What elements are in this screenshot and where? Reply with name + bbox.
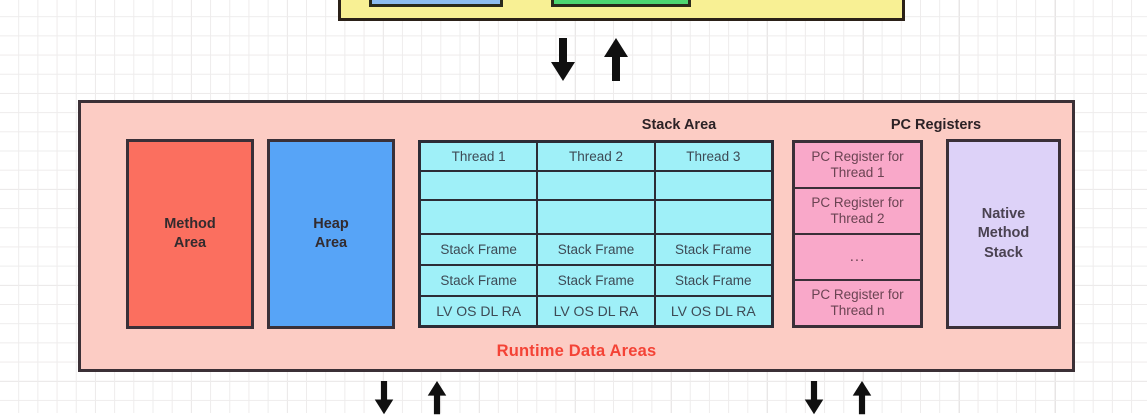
arrow-up-bottom-right <box>849 381 875 415</box>
thread-header-cell: Thread 2 <box>538 143 653 172</box>
stack-frame-cell: Stack Frame <box>656 235 771 266</box>
stack-empty-cell <box>538 172 653 201</box>
stack-frame-cell: Stack Frame <box>656 266 771 297</box>
arrow-down-bottom-right <box>802 381 826 415</box>
pc-registers-title: PC Registers <box>792 117 1080 133</box>
green-component-box <box>551 0 691 7</box>
pc-register-cell: PC Register for Thread 1 <box>795 143 920 189</box>
arrow-down-bottom-left <box>372 381 396 415</box>
heap-area-block: Heap Area <box>267 139 395 329</box>
stack-frame-cell: Stack Frame <box>421 266 536 297</box>
pc-register-ellipsis-cell: ... <box>795 235 920 281</box>
stack-empty-cell <box>421 172 536 201</box>
thread-column-3: Thread 3 Stack Frame Stack Frame LV OS D… <box>656 143 771 325</box>
runtime-data-areas-container: Stack Area PC Registers Method Area Heap… <box>78 100 1075 372</box>
stack-empty-cell <box>656 201 771 235</box>
stack-empty-cell <box>421 201 536 235</box>
pc-register-cell: PC Register for Thread 2 <box>795 189 920 235</box>
stack-empty-cell <box>656 172 771 201</box>
diagram-canvas: Stack Area PC Registers Method Area Heap… <box>0 0 1147 413</box>
thread-column-2: Thread 2 Stack Frame Stack Frame LV OS D… <box>538 143 655 325</box>
blue-component-box <box>369 0 503 7</box>
stack-area-table: Thread 1 Stack Frame Stack Frame LV OS D… <box>418 140 774 328</box>
arrow-up-top <box>603 38 629 82</box>
stack-frame-parts-cell: LV OS DL RA <box>421 297 536 325</box>
thread-header-cell: Thread 3 <box>656 143 771 172</box>
stack-frame-cell: Stack Frame <box>538 235 653 266</box>
runtime-data-areas-caption: Runtime Data Areas <box>81 342 1072 361</box>
arrow-down-top <box>550 38 576 82</box>
stack-frame-cell: Stack Frame <box>538 266 653 297</box>
method-area-block: Method Area <box>126 139 254 329</box>
pc-registers-stack: PC Register for Thread 1 PC Register for… <box>792 140 923 328</box>
stack-frame-parts-cell: LV OS DL RA <box>656 297 771 325</box>
stack-empty-cell <box>538 201 653 235</box>
pc-register-cell: PC Register for Thread n <box>795 281 920 325</box>
thread-header-cell: Thread 1 <box>421 143 536 172</box>
native-method-stack-block: Native Method Stack <box>946 139 1061 329</box>
jvm-upper-band <box>338 0 905 21</box>
thread-column-1: Thread 1 Stack Frame Stack Frame LV OS D… <box>421 143 538 325</box>
arrow-up-bottom-left <box>424 381 450 415</box>
stack-frame-cell: Stack Frame <box>421 235 536 266</box>
stack-frame-parts-cell: LV OS DL RA <box>538 297 653 325</box>
